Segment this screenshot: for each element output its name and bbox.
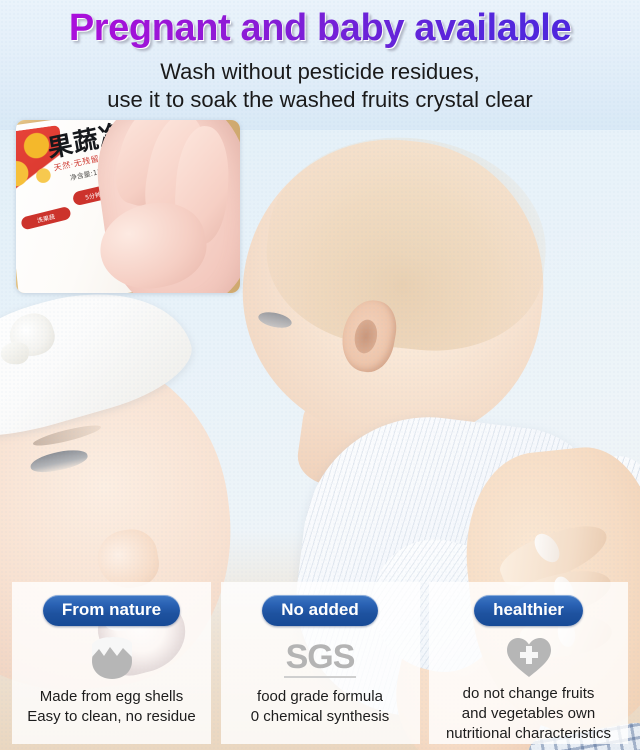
feature-line-1: do not change fruits: [446, 684, 611, 704]
egg-shell-icon: [90, 632, 134, 684]
feature-description: Made from egg shells Easy to clean, no r…: [27, 687, 195, 727]
subtitle-line-1: Wash without pesticide residues,: [0, 58, 640, 86]
feature-box-from-nature: From nature Made from egg shells Easy to…: [12, 582, 211, 744]
page-title: Pregnant and baby available: [0, 4, 640, 52]
feature-line-3: nutritional characteristics: [446, 724, 611, 744]
promotional-banner: 果蔬净 天然·无残留·易冲洗 净含量:120g 5分钟快速洗净 洗果蔬 去农残 …: [0, 0, 640, 750]
feature-description: do not change fruits and vegetables own …: [446, 684, 611, 744]
feature-line-1: food grade formula: [251, 687, 389, 707]
status-badge: healthier: [474, 595, 583, 626]
feature-description: food grade formula 0 chemical synthesis: [251, 687, 389, 727]
product-inset-photo: 果蔬净 天然·无残留·易冲洗 净含量:120g 5分钟快速洗净 洗果蔬 去农残: [16, 120, 240, 293]
sgs-logo-icon: SGS: [284, 632, 357, 684]
feature-box-healthier: healthier do not change fruits and veget…: [429, 582, 628, 744]
feature-line-2: and vegetables own: [446, 704, 611, 724]
subtitle-line-2: use it to soak the washed fruits crystal…: [0, 86, 640, 114]
subtitle: Wash without pesticide residues, use it …: [0, 58, 640, 114]
feature-boxes: From nature Made from egg shells Easy to…: [0, 582, 640, 750]
header-band: Pregnant and baby available Wash without…: [0, 0, 640, 130]
sgs-logo-text: SGS: [284, 638, 357, 678]
status-badge: No added: [262, 595, 377, 626]
feature-box-no-added: No added SGS food grade formula 0 chemic…: [221, 582, 420, 744]
feature-line-2: Easy to clean, no residue: [27, 707, 195, 727]
heart-plus-icon: [505, 632, 553, 681]
feature-line-2: 0 chemical synthesis: [251, 707, 389, 727]
feature-line-1: Made from egg shells: [27, 687, 195, 707]
status-badge: From nature: [43, 595, 180, 626]
